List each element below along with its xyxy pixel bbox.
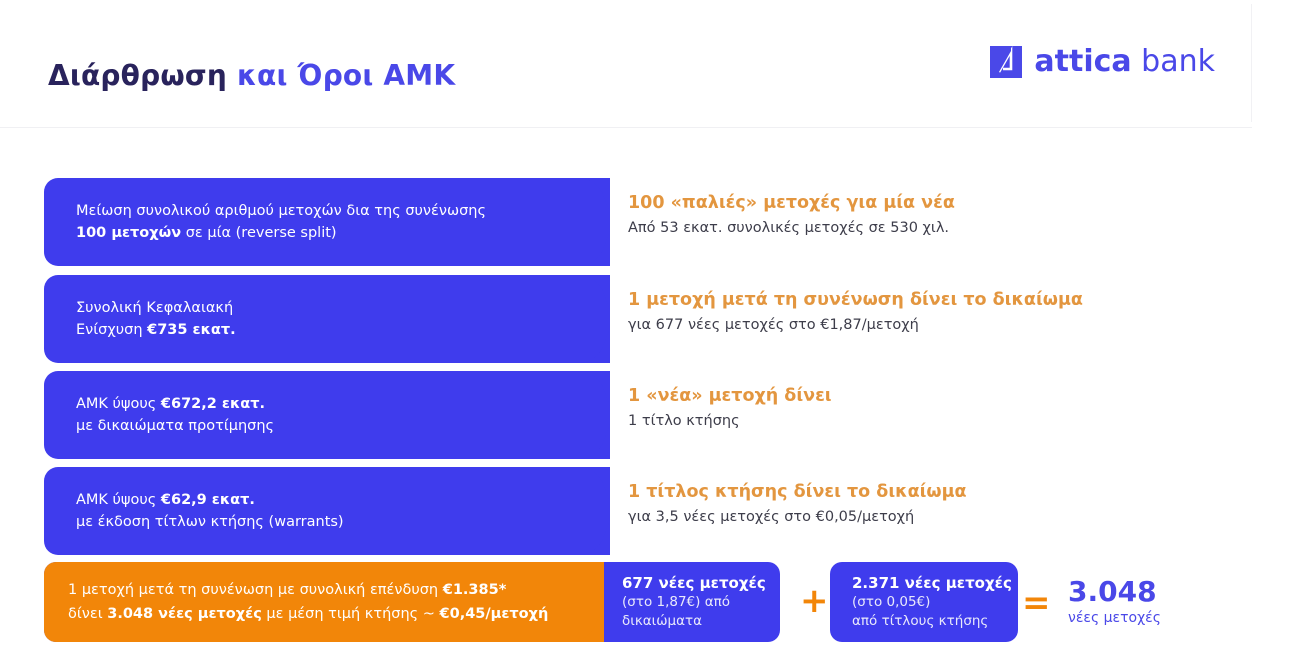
content-row-4: ΑΜΚ ύψους €62,9 εκατ. με έκδοση τίτλων κ… xyxy=(0,467,1291,555)
right-text-3: 1 «νέα» μετοχή δίνει 1 τίτλο κτήσης xyxy=(628,383,1248,433)
arrow-box-4-line-1: ΑΜΚ ύψους €62,9 εκατ. xyxy=(76,489,610,511)
right-sub-3: 1 τίτλο κτήσης xyxy=(628,409,1248,433)
right-sub-4: για 3,5 νέες μετοχές στο €0,05/μετοχή xyxy=(628,505,1248,529)
summary-orange-line-1-pre: 1 μετοχή μετά τη συνένωση με συνολική επ… xyxy=(68,582,443,598)
summary-band: 1 μετοχή μετά τη συνένωση με συνολική επ… xyxy=(0,562,1291,648)
right-text-1: 100 «παλιές» μετοχές για μία νέα Από 53 … xyxy=(628,190,1248,240)
summary-orange-line-2-pre: δίνει xyxy=(68,606,107,622)
content-row-3: ΑΜΚ ύψους €672,2 εκατ. με δικαιώματα προ… xyxy=(0,371,1291,459)
brand-logo-text: attica bank xyxy=(1034,47,1215,77)
tally-1-sub-1: (στο 1,87€) από xyxy=(622,593,800,612)
right-heading-2: 1 μετοχή μετά τη συνένωση δίνει το δικαί… xyxy=(628,287,1248,313)
summary-orange-line-2-mid: με μέση τιμή κτήσης ~ xyxy=(262,606,440,622)
attica-bank-logo-mark-icon xyxy=(989,45,1023,79)
content-row-2: Συνολική Κεφαλαιακή Ενίσχυση €735 εκατ. … xyxy=(0,275,1291,363)
page-title: Διάρθρωση και Όροι ΑΜΚ xyxy=(48,59,455,92)
tally-2-heading: 2.371 νέες μετοχές xyxy=(852,573,1018,593)
brand-suffix: bank xyxy=(1132,44,1215,79)
summary-orange-arrow: 1 μετοχή μετά τη συνένωση με συνολική επ… xyxy=(44,562,604,642)
summary-orange-line-2-bold: 3.048 νέες μετοχές xyxy=(107,606,262,622)
tally-box-warrants: 2.371 νέες μετοχές (στο 0,05€) από τίτλο… xyxy=(830,562,1018,642)
right-heading-1: 100 «παλιές» μετοχές για μία νέα xyxy=(628,190,1248,216)
total-shares-value: 3.048 xyxy=(1068,576,1268,608)
arrow-box-2-line-2: Ενίσχυση €735 εκατ. xyxy=(76,319,610,341)
arrow-box-1-line-2-rest: σε μία (reverse split) xyxy=(181,225,336,241)
brand-name: attica xyxy=(1034,44,1131,79)
arrow-box-2-line-2-bold: €735 εκατ. xyxy=(147,322,236,338)
tally-2-sub-1: (στο 0,05€) xyxy=(852,593,1018,612)
right-sub-1: Από 53 εκατ. συνολικές μετοχές σε 530 χι… xyxy=(628,216,1248,240)
page-title-part-2: και Όροι ΑΜΚ xyxy=(237,59,455,92)
right-text-4: 1 τίτλος κτήσης δίνει το δικαίωμα για 3,… xyxy=(628,479,1248,529)
tally-1-sub-2: δικαιώματα xyxy=(622,612,800,631)
arrow-box-3-line-2: με δικαιώματα προτίμησης xyxy=(76,415,610,437)
arrow-box-2-line-2-pre: Ενίσχυση xyxy=(76,322,147,338)
summary-orange-line-1-bold: €1.385* xyxy=(443,582,507,598)
arrow-box-4-line-2: με έκδοση τίτλων κτήσης (warrants) xyxy=(76,511,610,533)
arrow-box-3-line-1-bold: €672,2 εκατ. xyxy=(161,396,265,412)
operator-equals: = xyxy=(1022,586,1051,620)
arrow-box-1-line-2-bold: 100 μετοχών xyxy=(76,225,181,241)
arrow-box-1-line-1: Μείωση συνολικού αριθμού μετοχών δια της… xyxy=(76,200,610,222)
arrow-box-4: ΑΜΚ ύψους €62,9 εκατ. με έκδοση τίτλων κ… xyxy=(44,467,610,555)
arrow-box-3-line-1: ΑΜΚ ύψους €672,2 εκατ. xyxy=(76,393,610,415)
total-shares: 3.048 νέες μετοχές xyxy=(1068,576,1268,628)
brand-logo: attica bank xyxy=(989,42,1215,82)
header-divider xyxy=(0,127,1252,128)
arrow-box-4-line-1-pre: ΑΜΚ ύψους xyxy=(76,492,161,508)
summary-orange-line-1: 1 μετοχή μετά τη συνένωση με συνολική επ… xyxy=(68,578,604,602)
arrow-box-4-line-1-bold: €62,9 εκατ. xyxy=(161,492,255,508)
right-edge-rule xyxy=(1251,4,1252,122)
arrow-box-2-line-1: Συνολική Κεφαλαιακή xyxy=(76,297,610,319)
right-heading-3: 1 «νέα» μετοχή δίνει xyxy=(628,383,1248,409)
arrow-box-3: ΑΜΚ ύψους €672,2 εκατ. με δικαιώματα προ… xyxy=(44,371,610,459)
operator-plus: + xyxy=(800,584,829,618)
tally-1-heading: 677 νέες μετοχές xyxy=(622,573,800,593)
arrow-box-1-line-2: 100 μετοχών σε μία (reverse split) xyxy=(76,222,610,244)
slide-canvas: Διάρθρωση και Όροι ΑΜΚ attica bank Μείωσ… xyxy=(0,0,1291,668)
arrow-box-2: Συνολική Κεφαλαιακή Ενίσχυση €735 εκατ. xyxy=(44,275,610,363)
summary-orange-line-2: δίνει 3.048 νέες μετοχές με μέση τιμή κτ… xyxy=(68,602,604,626)
tally-2-sub-2: από τίτλους κτήσης xyxy=(852,612,1018,631)
right-sub-2: για 677 νέες μετοχές στο €1,87/μετοχή xyxy=(628,313,1248,337)
arrow-box-3-line-1-pre: ΑΜΚ ύψους xyxy=(76,396,161,412)
total-shares-label: νέες μετοχές xyxy=(1068,608,1268,628)
right-text-2: 1 μετοχή μετά τη συνένωση δίνει το δικαί… xyxy=(628,287,1248,337)
slide-header: Διάρθρωση και Όροι ΑΜΚ attica bank xyxy=(0,0,1291,128)
tally-box-rights: 677 νέες μετοχές (στο 1,87€) από δικαιώμ… xyxy=(600,562,800,642)
page-title-part-1: Διάρθρωση xyxy=(48,59,237,92)
right-heading-4: 1 τίτλος κτήσης δίνει το δικαίωμα xyxy=(628,479,1248,505)
content-row-1: Μείωση συνολικού αριθμού μετοχών δια της… xyxy=(0,178,1291,266)
arrow-box-1: Μείωση συνολικού αριθμού μετοχών δια της… xyxy=(44,178,610,266)
summary-orange-line-2-bold-2: €0,45/μετοχή xyxy=(440,606,549,622)
